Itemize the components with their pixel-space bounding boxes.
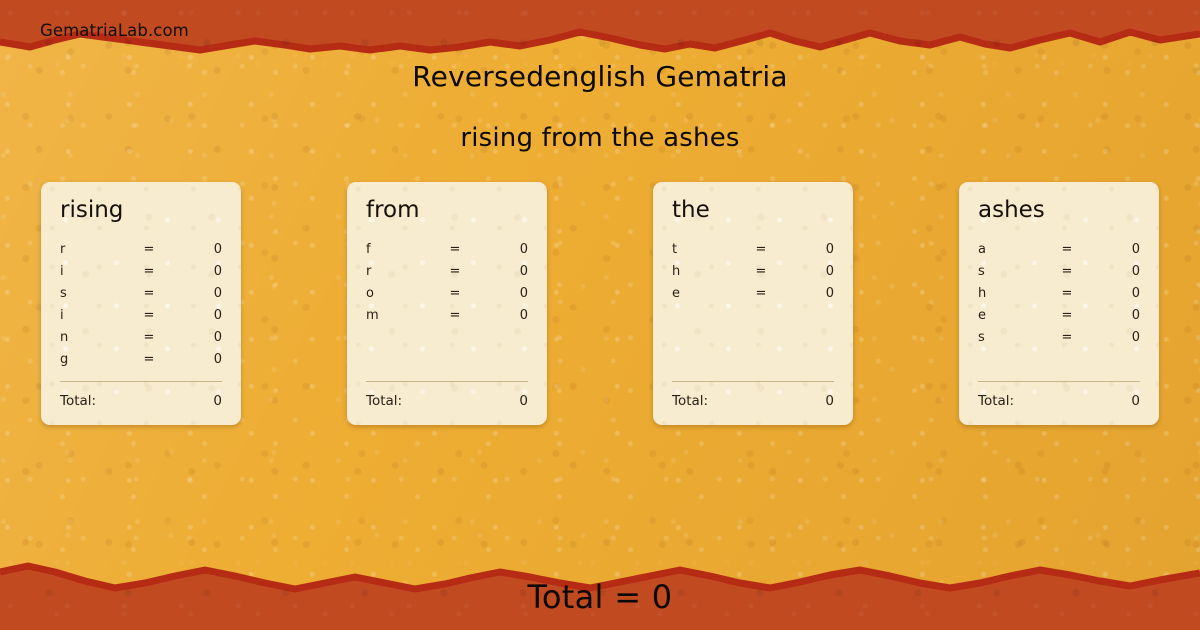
word-card: rising r = 0 i = 0 s = 0 i = 0 bbox=[41, 182, 241, 425]
letter-rows: r = 0 i = 0 s = 0 i = 0 n = 0 bbox=[60, 238, 222, 370]
word-card-title: the bbox=[672, 199, 834, 222]
letter-rows: a = 0 s = 0 h = 0 e = 0 s = 0 bbox=[978, 238, 1140, 348]
letter: e bbox=[672, 286, 734, 301]
letter-row: m = 0 bbox=[366, 304, 528, 326]
letter: r bbox=[366, 264, 428, 279]
phrase-heading: rising from the ashes bbox=[0, 123, 1200, 153]
word-total-value: 0 bbox=[213, 393, 222, 409]
equals-sign: = bbox=[428, 242, 482, 257]
word-card-footer: Total: 0 bbox=[672, 381, 834, 409]
letter: h bbox=[978, 286, 1040, 301]
letter: r bbox=[60, 242, 122, 257]
word-card: ashes a = 0 s = 0 h = 0 e = 0 bbox=[959, 182, 1159, 425]
letter-value: 0 bbox=[176, 330, 222, 345]
letter-value: 0 bbox=[482, 286, 528, 301]
equals-sign: = bbox=[122, 286, 176, 301]
letter-row: o = 0 bbox=[366, 282, 528, 304]
letter-value: 0 bbox=[788, 242, 834, 257]
word-card-footer: Total: 0 bbox=[366, 381, 528, 409]
letter-row: h = 0 bbox=[672, 260, 834, 282]
letter-row: i = 0 bbox=[60, 260, 222, 282]
letter: n bbox=[60, 330, 122, 345]
letter-value: 0 bbox=[788, 286, 834, 301]
word-total-value: 0 bbox=[1131, 393, 1140, 409]
letter: s bbox=[60, 286, 122, 301]
letter: i bbox=[60, 308, 122, 323]
letter-value: 0 bbox=[1094, 242, 1140, 257]
equals-sign: = bbox=[122, 264, 176, 279]
letter-value: 0 bbox=[788, 264, 834, 279]
word-card-title: rising bbox=[60, 199, 222, 222]
letter-value: 0 bbox=[482, 242, 528, 257]
letter-row: f = 0 bbox=[366, 238, 528, 260]
equals-sign: = bbox=[428, 286, 482, 301]
letter-value: 0 bbox=[176, 308, 222, 323]
letter-value: 0 bbox=[1094, 330, 1140, 345]
cipher-title: Reversedenglish Gematria bbox=[0, 60, 1200, 93]
equals-sign: = bbox=[734, 242, 788, 257]
word-total-label: Total: bbox=[978, 393, 1014, 409]
equals-sign: = bbox=[122, 352, 176, 367]
word-card-title: ashes bbox=[978, 199, 1140, 222]
letter: h bbox=[672, 264, 734, 279]
letter-row: r = 0 bbox=[60, 238, 222, 260]
letter: f bbox=[366, 242, 428, 257]
word-card: from f = 0 r = 0 o = 0 m = 0 bbox=[347, 182, 547, 425]
letter-row: a = 0 bbox=[978, 238, 1140, 260]
equals-sign: = bbox=[1040, 264, 1094, 279]
word-total-row: Total: 0 bbox=[672, 393, 834, 409]
equals-sign: = bbox=[122, 330, 176, 345]
word-total-label: Total: bbox=[60, 393, 96, 409]
equals-sign: = bbox=[1040, 330, 1094, 345]
letter-value: 0 bbox=[482, 308, 528, 323]
letter: i bbox=[60, 264, 122, 279]
word-total-value: 0 bbox=[519, 393, 528, 409]
divider bbox=[60, 381, 222, 382]
grand-total: Total = 0 bbox=[0, 578, 1200, 616]
letter-row: t = 0 bbox=[672, 238, 834, 260]
letter-value: 0 bbox=[176, 352, 222, 367]
letter-rows: t = 0 h = 0 e = 0 bbox=[672, 238, 834, 304]
letter: a bbox=[978, 242, 1040, 257]
equals-sign: = bbox=[428, 308, 482, 323]
equals-sign: = bbox=[122, 242, 176, 257]
equals-sign: = bbox=[734, 264, 788, 279]
letter-rows: f = 0 r = 0 o = 0 m = 0 bbox=[366, 238, 528, 326]
letter-row: r = 0 bbox=[366, 260, 528, 282]
equals-sign: = bbox=[1040, 286, 1094, 301]
word-card-footer: Total: 0 bbox=[60, 381, 222, 409]
letter: t bbox=[672, 242, 734, 257]
equals-sign: = bbox=[1040, 242, 1094, 257]
letter-row: g = 0 bbox=[60, 348, 222, 370]
letter-row: s = 0 bbox=[978, 326, 1140, 348]
equals-sign: = bbox=[1040, 308, 1094, 323]
letter: s bbox=[978, 330, 1040, 345]
word-total-value: 0 bbox=[825, 393, 834, 409]
letter-value: 0 bbox=[1094, 264, 1140, 279]
letter: o bbox=[366, 286, 428, 301]
word-total-label: Total: bbox=[366, 393, 402, 409]
letter: s bbox=[978, 264, 1040, 279]
equals-sign: = bbox=[734, 286, 788, 301]
letter-row: e = 0 bbox=[672, 282, 834, 304]
letter-value: 0 bbox=[176, 264, 222, 279]
word-card: the t = 0 h = 0 e = 0 Total: 0 bbox=[653, 182, 853, 425]
letter-value: 0 bbox=[482, 264, 528, 279]
letter-value: 0 bbox=[176, 286, 222, 301]
site-logo[interactable]: GematriaLab.com bbox=[40, 21, 189, 40]
divider bbox=[672, 381, 834, 382]
letter-row: e = 0 bbox=[978, 304, 1140, 326]
letter-row: s = 0 bbox=[978, 260, 1140, 282]
letter-row: h = 0 bbox=[978, 282, 1140, 304]
word-total-row: Total: 0 bbox=[366, 393, 528, 409]
word-total-row: Total: 0 bbox=[978, 393, 1140, 409]
divider bbox=[978, 381, 1140, 382]
word-card-title: from bbox=[366, 199, 528, 222]
letter-row: s = 0 bbox=[60, 282, 222, 304]
letter-row: n = 0 bbox=[60, 326, 222, 348]
word-total-row: Total: 0 bbox=[60, 393, 222, 409]
letter: g bbox=[60, 352, 122, 367]
equals-sign: = bbox=[428, 264, 482, 279]
letter-value: 0 bbox=[1094, 308, 1140, 323]
equals-sign: = bbox=[122, 308, 176, 323]
letter: e bbox=[978, 308, 1040, 323]
letter: m bbox=[366, 308, 428, 323]
divider bbox=[366, 381, 528, 382]
letter-value: 0 bbox=[1094, 286, 1140, 301]
word-total-label: Total: bbox=[672, 393, 708, 409]
letter-value: 0 bbox=[176, 242, 222, 257]
letter-row: i = 0 bbox=[60, 304, 222, 326]
word-cards-container: rising r = 0 i = 0 s = 0 i = 0 bbox=[0, 182, 1200, 426]
word-card-footer: Total: 0 bbox=[978, 381, 1140, 409]
